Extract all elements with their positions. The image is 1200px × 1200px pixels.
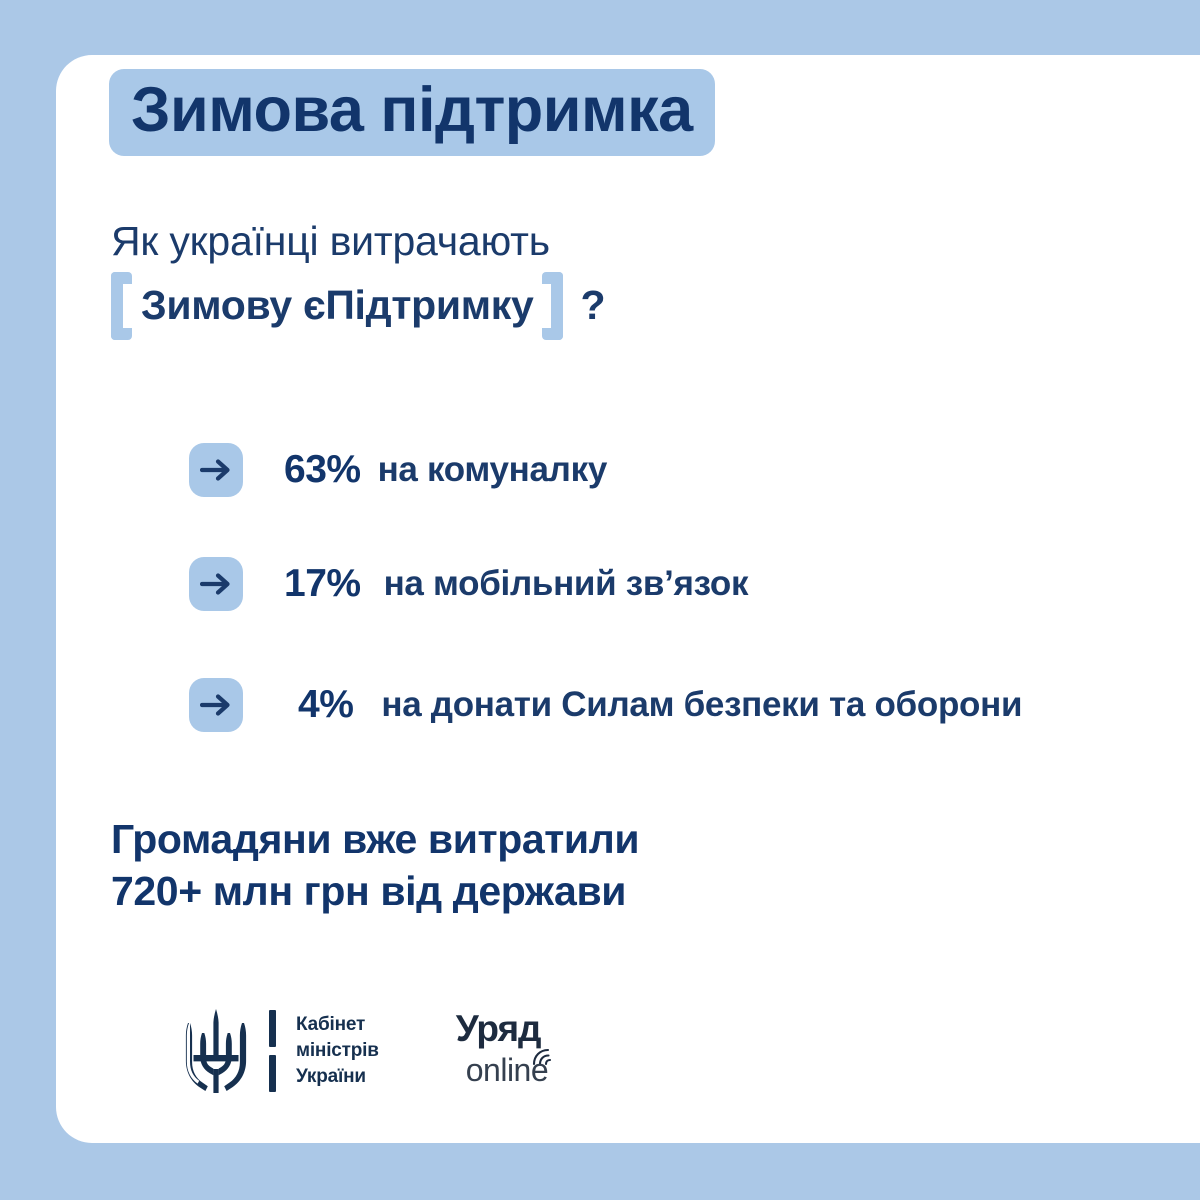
online-wordmark: online [466, 1054, 548, 1086]
cabinet-of-ministers-logo: Кабінет міністрів України [185, 1009, 379, 1093]
title-highlight-pill: Зимова підтримка [109, 69, 715, 156]
arrow-right-icon [189, 678, 243, 732]
question-mark: ? [581, 277, 606, 334]
stat-label: на комуналку [378, 450, 607, 490]
stat-row: 4% на донати Силам безпеки та оборони [189, 678, 1022, 732]
stat-row: 17% на мобільний зв’язок [189, 557, 748, 611]
bracket-left-icon [111, 272, 132, 340]
cmu-line-2: міністрів [296, 1038, 379, 1064]
uryad-wordmark: Уряд [456, 1010, 541, 1047]
cmu-line-1: Кабінет [296, 1012, 379, 1038]
summary-line-1: Громадяни вже витратили [111, 813, 639, 865]
infographic-canvas: Зимова підтримка Як українці витрачають … [0, 0, 1200, 1200]
stat-percent: 4% [298, 683, 353, 727]
stat-percent: 17% [284, 562, 361, 606]
ukrainian-trident-icon [185, 1009, 247, 1093]
question-highlight-text: Зимову єПідтримку [132, 277, 542, 334]
uryad-online-logo: Уряд online [456, 1008, 581, 1094]
cmu-line-3: України [296, 1064, 379, 1090]
bracket-right-icon [542, 272, 563, 340]
arrow-right-icon [189, 557, 243, 611]
question-block: Як українці витрачають Зимову єПідтримку… [111, 213, 606, 340]
page-title: Зимова підтримка [109, 69, 715, 156]
stat-label: на мобільний зв’язок [384, 564, 749, 604]
stat-label: на донати Силам безпеки та оборони [381, 685, 1022, 725]
stat-percent: 63% [284, 448, 361, 492]
question-line-1: Як українці витрачають [111, 213, 606, 270]
cabinet-of-ministers-label: Кабінет міністрів України [296, 1012, 379, 1089]
logo-divider [269, 1010, 276, 1092]
footer-logos: Кабінет міністрів України Уряд online [185, 1008, 581, 1094]
stat-row: 63% на комуналку [189, 443, 607, 497]
summary-block: Громадяни вже витратили 720+ млн грн від… [111, 813, 639, 918]
summary-line-2: 720+ млн грн від держави [111, 865, 639, 917]
question-line-2: Зимову єПідтримку ? [111, 272, 606, 340]
arrow-right-icon [189, 443, 243, 497]
